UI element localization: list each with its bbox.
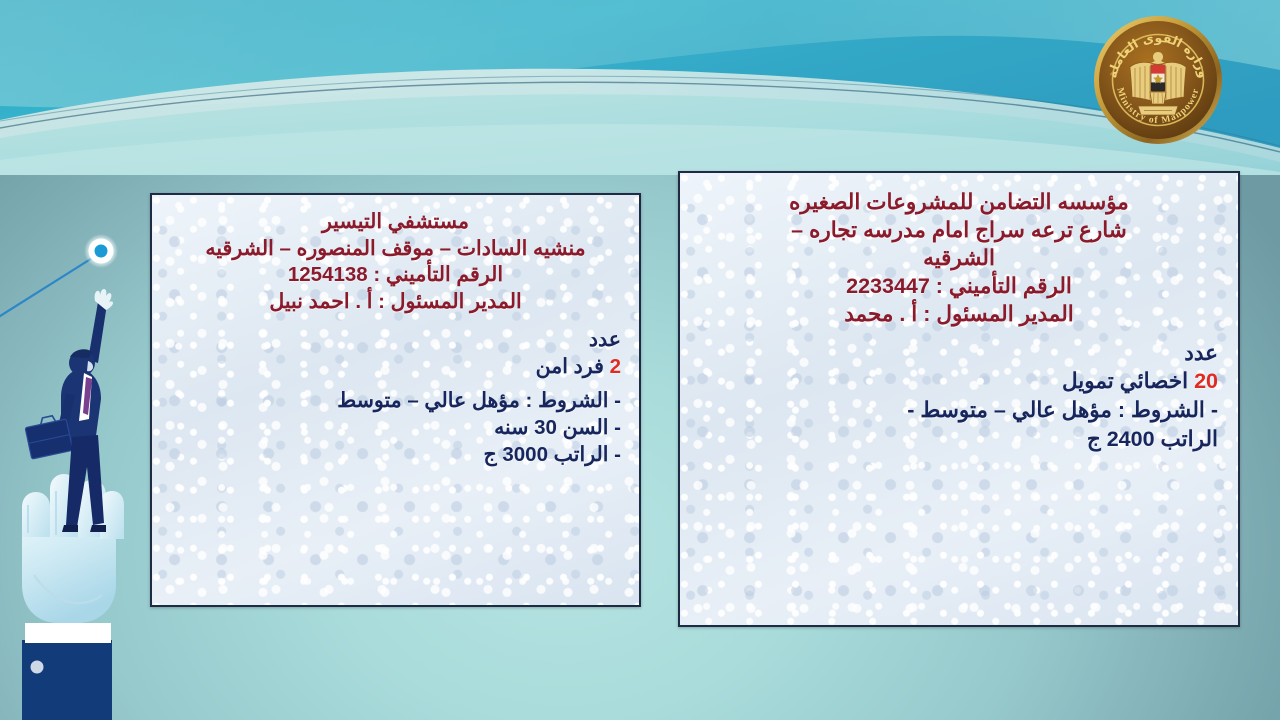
shoe-left [62,525,78,532]
count-number: 20 [1194,369,1218,393]
age-line: - السن 30 سنه [170,414,621,441]
org-address-line1: شارع ترعه سراج امام مدرسه تجاره – [700,217,1218,245]
org-name: مؤسسه التضامن للمشروعات الصغيره [700,189,1218,217]
sleeve [22,640,112,720]
job-listing-card-taysir: مستشفي التيسير منشيه السادات – موقف المن… [150,193,641,607]
org-address-line2: الشرقيه [700,245,1218,273]
shirt-cuff [25,623,111,643]
salary-line: - الراتب 3000 ج [170,441,621,468]
salary-line: الراتب 2400 ج [700,425,1218,454]
responsible-manager: المدير المسئول : أ . احمد نبيل [170,289,621,316]
goal-dot-inner [95,245,108,258]
count-job-title: اخصائي تمويل [1062,369,1188,393]
count-label: عدد [700,339,1218,368]
org-address: منشيه السادات – موقف المنصوره – الشرقيه [170,236,621,263]
finger-1 [22,492,50,537]
ministry-logo: وزارة القوى العاملة Ministry of Manpower [1092,14,1224,146]
job-listing-card-tadamon: مؤسسه التضامن للمشروعات الصغيره شارع ترع… [678,171,1240,627]
insurance-number: الرقم التأميني : 1254138 [170,262,621,289]
shoe-right [90,525,106,532]
hair [70,349,92,358]
count-row: 2 فرد امن [170,353,621,380]
briefcase [25,415,73,459]
count-job-title: فرد امن [536,355,604,378]
slide-canvas: وزارة القوى العاملة Ministry of Manpower [0,0,1280,720]
insurance-number: الرقم التأميني : 2233447 [700,273,1218,301]
count-label: عدد [170,326,621,353]
ministry-of-manpower-seal-icon: وزارة القوى العاملة Ministry of Manpower [1092,14,1224,146]
connector-line [0,255,97,335]
banner-waves-graphic [0,0,1280,175]
responsible-manager: المدير المسئول : أ . محمد [700,301,1218,329]
conditions-line: - الشروط : مؤهل عالي – متوسط [170,387,621,414]
org-name: مستشفي التيسير [170,209,621,236]
cufflink-button [31,661,44,674]
conditions-line: - الشروط : مؤهل عالي – متوسط - [700,396,1218,425]
top-banner [0,0,1280,175]
count-number: 2 [610,355,621,378]
count-row: 20 اخصائي تمويل [700,367,1218,396]
